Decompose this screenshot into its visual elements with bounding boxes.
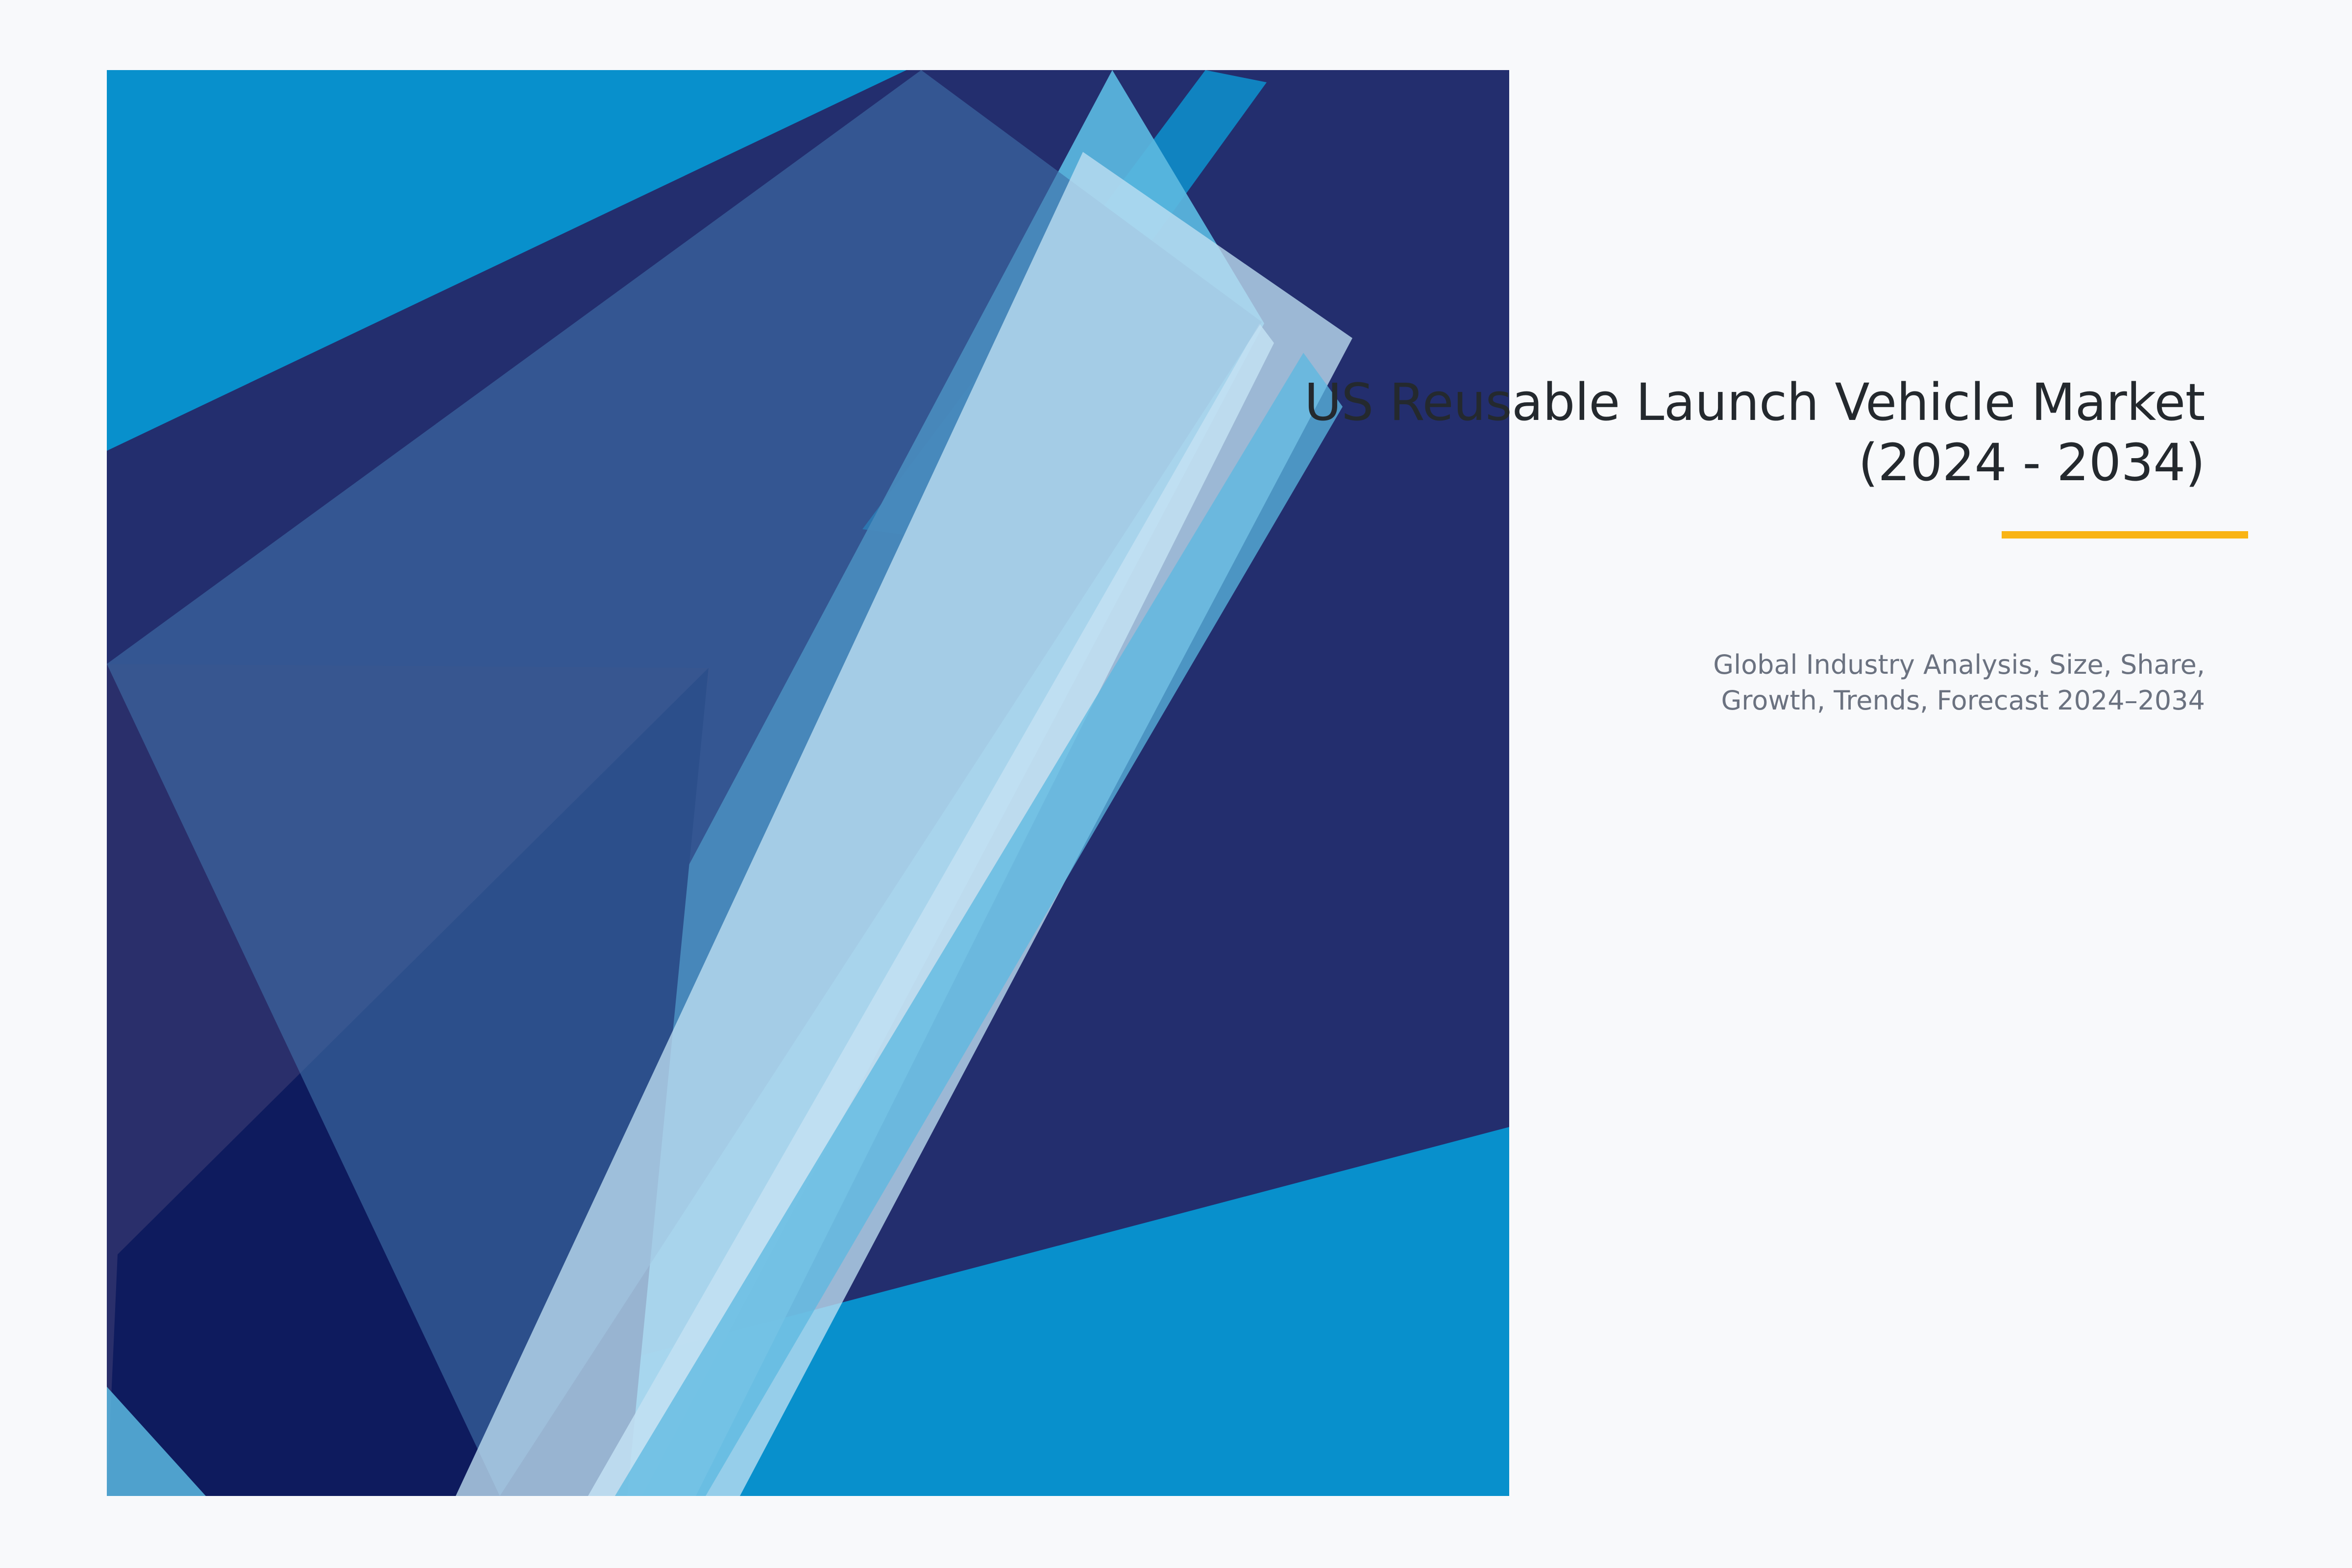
cover-subtitle: Global Industry Analysis, Size, Share, G… [1519,647,2205,719]
title-underline-bar [2002,531,2248,539]
page-title: US Reusable Launch Vehicle Market (2024 … [931,372,2205,492]
report-cover: US Reusable Launch Vehicle Market (2024 … [0,0,2352,1568]
cover-title-block: US Reusable Launch Vehicle Market (2024 … [931,372,2205,492]
abstract-polygon-graphic [0,0,2352,1568]
